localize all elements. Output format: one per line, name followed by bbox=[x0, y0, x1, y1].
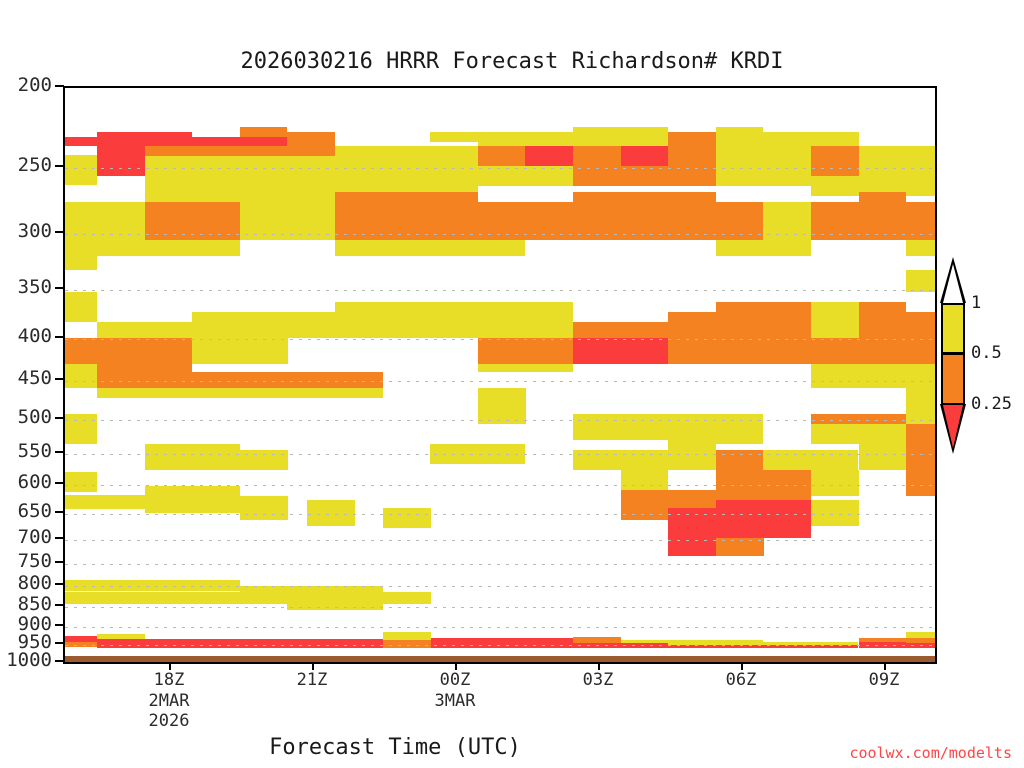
x-axis-tick-label: 09Z bbox=[834, 670, 934, 691]
y-axis-tick-label: 750 bbox=[0, 552, 52, 571]
y-axis-tick-label: 850 bbox=[0, 595, 52, 614]
y-axis-tick-label: 800 bbox=[0, 574, 52, 593]
x-axis-tick-label: 00Z 3MAR bbox=[405, 670, 505, 711]
y-axis-tick-label: 200 bbox=[0, 76, 52, 95]
x-axis-tick-label: 06Z bbox=[691, 670, 791, 691]
colorbar-segment bbox=[941, 353, 965, 405]
terrain-band bbox=[65, 88, 935, 662]
y-axis-tick-label: 350 bbox=[0, 278, 52, 297]
colorbar-under-arrow-fill bbox=[943, 405, 963, 448]
y-axis-tick-label: 500 bbox=[0, 408, 52, 427]
y-axis-tick-label: 1000 bbox=[0, 651, 52, 670]
watermark: coolwx.com/modelts bbox=[849, 744, 1012, 762]
x-axis-tick-mark bbox=[455, 662, 457, 670]
x-axis-tick-mark bbox=[884, 662, 886, 670]
colorbar-over-arrow-fill bbox=[943, 264, 963, 303]
x-axis-tick-mark bbox=[312, 662, 314, 670]
y-axis-tick-label: 600 bbox=[0, 473, 52, 492]
y-axis-tick-label: 250 bbox=[0, 156, 52, 175]
x-axis-tick-mark bbox=[741, 662, 743, 670]
colorbar-legend: 10.50.25 bbox=[941, 303, 965, 455]
x-axis-tick-mark bbox=[169, 662, 171, 670]
colorbar-tick-label: 0.5 bbox=[971, 345, 1002, 362]
y-axis-tick-label: 400 bbox=[0, 327, 52, 346]
page-title: 2026030216 HRRR Forecast Richardson# KRD… bbox=[0, 49, 1024, 74]
colorbar-tick-label: 1 bbox=[971, 295, 981, 312]
x-axis-tick-mark bbox=[598, 662, 600, 670]
x-axis-tick-label: 18Z 2MAR 2026 bbox=[119, 670, 219, 732]
x-axis-tick-label: 03Z bbox=[548, 670, 648, 691]
x-axis-tick-label: 21Z bbox=[262, 670, 362, 691]
colorbar-tick-label: 0.25 bbox=[971, 396, 1012, 413]
x-axis-title: Forecast Time (UTC) bbox=[0, 735, 790, 760]
y-axis-tick-label: 450 bbox=[0, 369, 52, 388]
terrain-surface bbox=[65, 656, 935, 664]
y-axis-tick-label: 650 bbox=[0, 502, 52, 521]
chart-root: 2026030216 HRRR Forecast Richardson# KRD… bbox=[0, 0, 1024, 768]
y-axis-tick-label: 700 bbox=[0, 528, 52, 547]
y-axis-tick-label: 550 bbox=[0, 442, 52, 461]
y-axis-tick-label: 300 bbox=[0, 222, 52, 241]
colorbar-segment bbox=[941, 303, 965, 354]
plot-area[interactable] bbox=[63, 86, 937, 664]
